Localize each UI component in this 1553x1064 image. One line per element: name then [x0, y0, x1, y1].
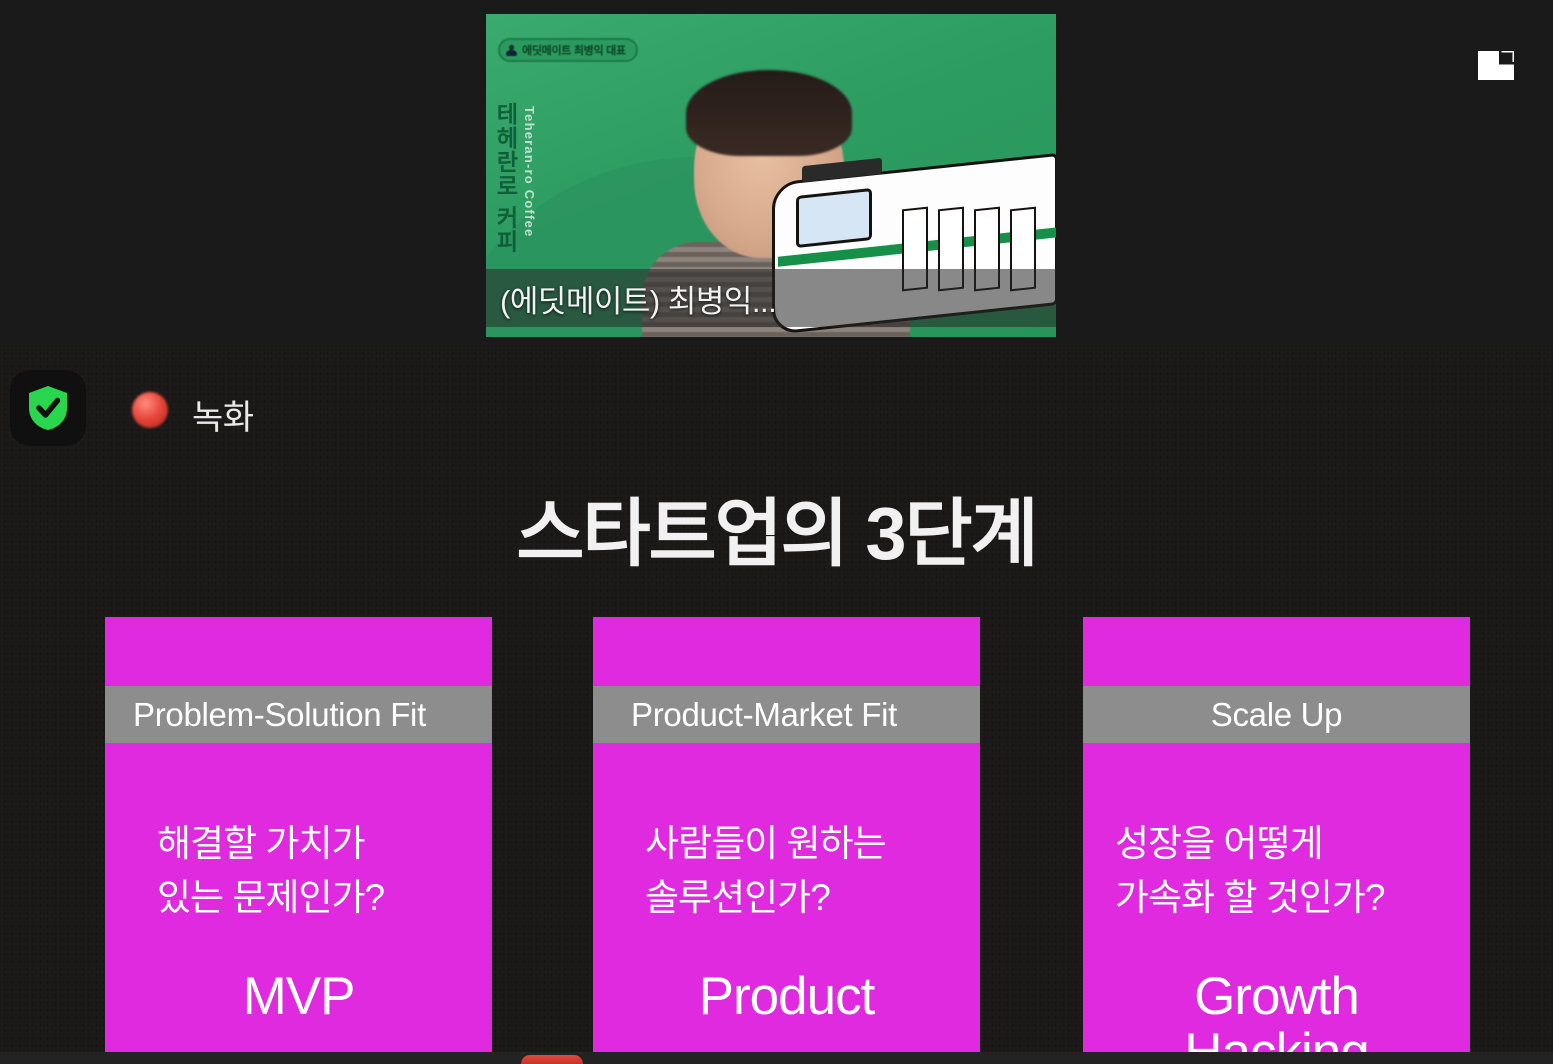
stage-card-body: 해결할 가치가있는 문제인가?: [105, 817, 492, 924]
leave-meeting-button[interactable]: [521, 1055, 583, 1064]
person-icon: [506, 45, 517, 56]
video-name-pill: 에딧메이트 최병익 대표: [498, 38, 638, 62]
stage-card-header: Scale Up: [1211, 696, 1343, 734]
stage-card: Scale Up 성장을 어떻게가속화 할 것인가? GrowthHacking: [1083, 617, 1470, 1052]
backdrop-text-en: Teheran-ro Coffee: [522, 106, 537, 237]
participant-hair: [686, 70, 852, 156]
shield-check-icon: [26, 384, 70, 432]
stage-card: Product-Market Fit 사람들이 원하는솔루션인가? Produc…: [593, 617, 980, 1052]
stage-card-header: Product-Market Fit: [631, 696, 897, 734]
meeting-window: 에딧메이트 최병익 대표 테헤란로 커피 Teheran-ro Coffee: [0, 0, 1553, 1064]
participant-strip: 에딧메이트 최병익 대표 테헤란로 커피 Teheran-ro Coffee: [0, 0, 1553, 346]
meeting-status-row: 녹화: [0, 370, 1553, 446]
stage-cards: Problem-Solution Fit 해결할 가치가있는 문제인가? MVP…: [105, 617, 1468, 1052]
participant-caption: (에딧메이트) 최병익...: [500, 276, 776, 321]
stage-card-footer: GrowthHacking: [1083, 969, 1470, 1052]
video-name-pill-label: 에딧메이트 최병익 대표: [522, 42, 626, 58]
stage-card-body: 성장을 어떻게가속화 할 것인가?: [1083, 817, 1470, 924]
stage-card-header-band: Problem-Solution Fit: [105, 686, 492, 743]
stage-card-header: Problem-Solution Fit: [133, 696, 426, 734]
recording-label: 녹화: [192, 390, 254, 439]
participant-video-tile[interactable]: 에딧메이트 최병익 대표 테헤란로 커피 Teheran-ro Coffee: [486, 14, 1056, 337]
stage-card: Problem-Solution Fit 해결할 가치가있는 문제인가? MVP: [105, 617, 492, 1052]
backdrop-text-ko: 테헤란로 커피: [492, 102, 518, 253]
stage-card-footer: MVP: [105, 969, 492, 1025]
picture-in-picture-button[interactable]: [1467, 36, 1525, 94]
slide-title: 스타트업의 3단계: [0, 474, 1553, 581]
record-dot-icon: [132, 392, 168, 428]
stage-card-header-band: Product-Market Fit: [593, 686, 980, 743]
picture-in-picture-icon: [1476, 49, 1516, 82]
shared-screen[interactable]: 녹화 스타트업의 3단계 Problem-Solution Fit 해결할 가치…: [0, 346, 1553, 1052]
stage-card-footer: Product: [593, 969, 980, 1025]
encryption-badge[interactable]: [10, 370, 86, 446]
stage-card-body: 사람들이 원하는솔루션인가?: [593, 817, 980, 924]
meeting-toolbar: [0, 1052, 1553, 1064]
stage-card-header-band: Scale Up: [1083, 686, 1470, 743]
video-caption-bar: (에딧메이트) 최병익...: [486, 269, 1056, 327]
